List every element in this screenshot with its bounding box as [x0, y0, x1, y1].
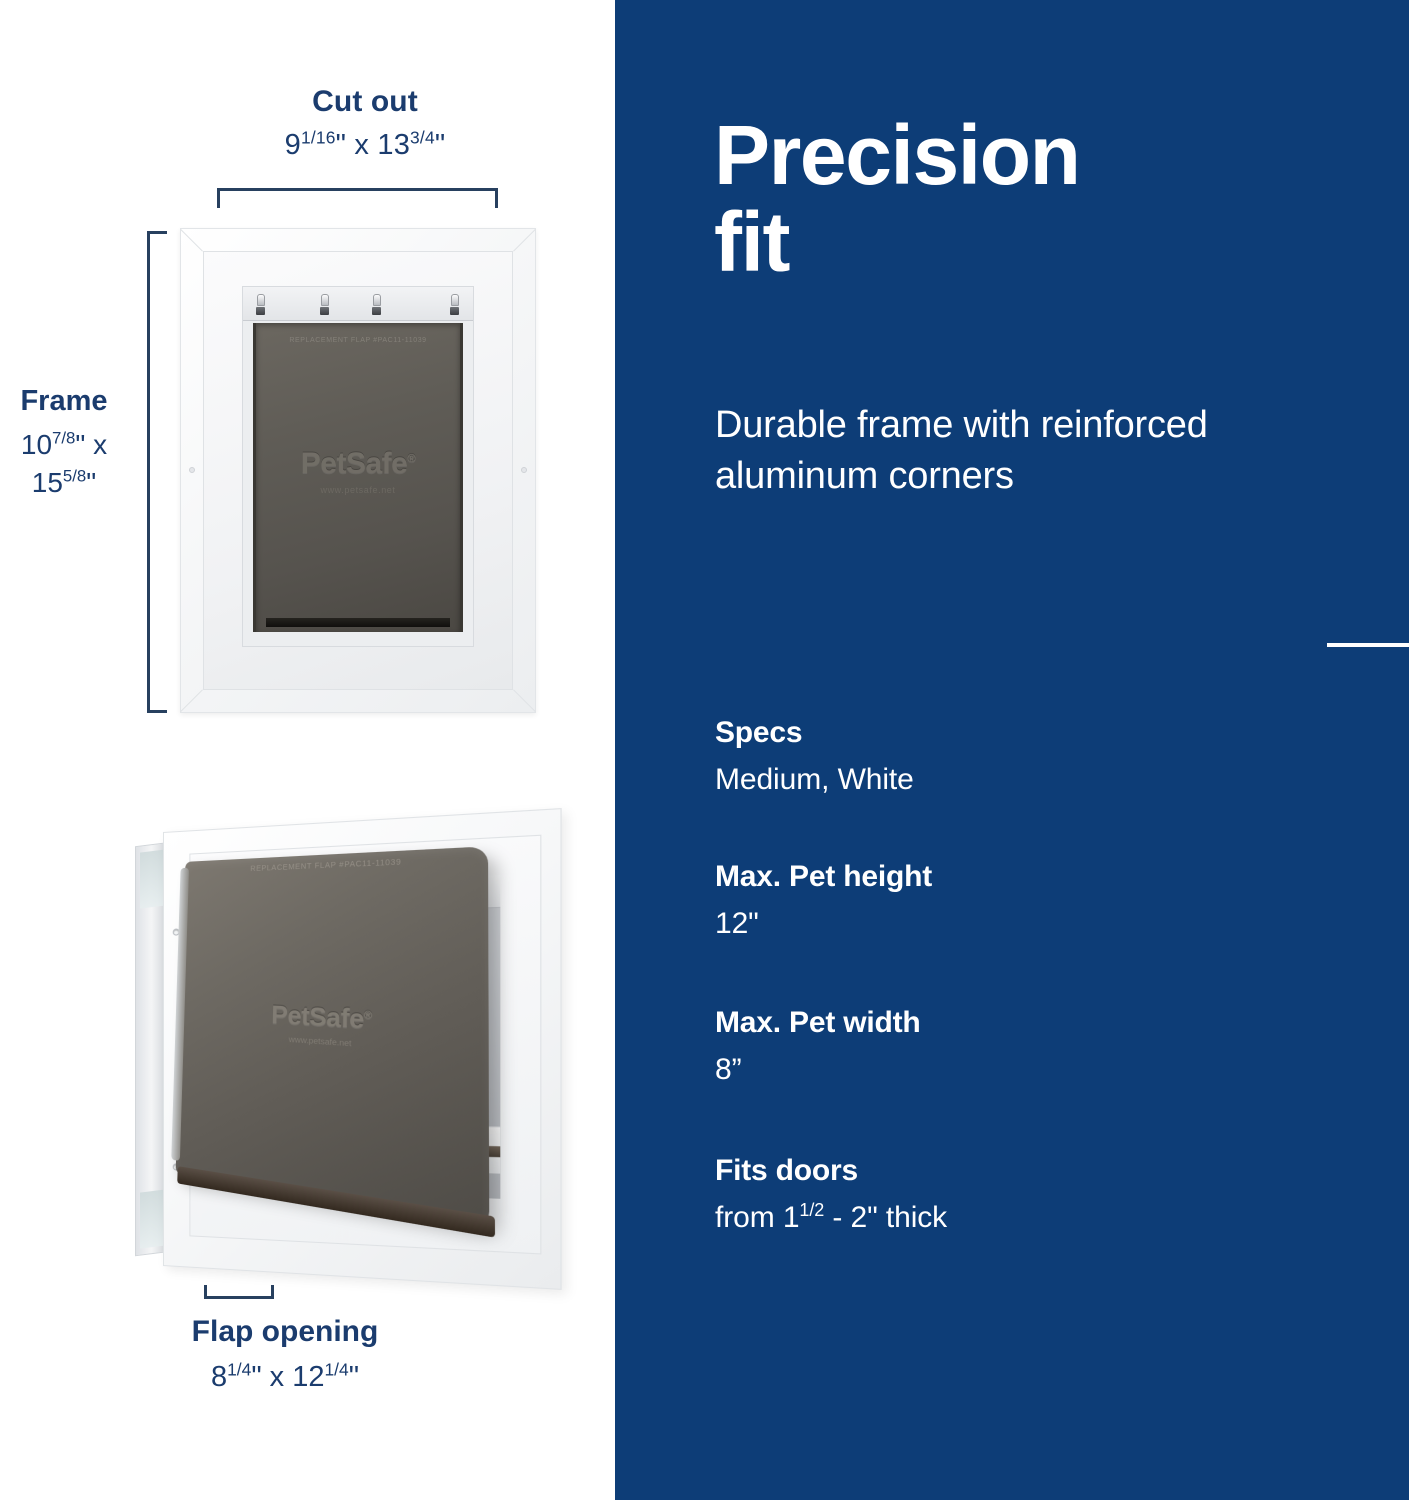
- flap-opening-measure-bracket: [204, 1285, 274, 1299]
- door-flap-cavity: REPLACEMENT FLAP #PAC11-11039 PetSafe® w…: [242, 286, 474, 647]
- feature-panel: Precisionfit Durable frame with reinforc…: [615, 0, 1409, 1500]
- frame-mitre-top-right: [513, 229, 536, 252]
- frame-mitre-bottom-left: [180, 689, 203, 712]
- rail-rivet-3: [373, 294, 381, 315]
- diagram-panel: Cut out 91/16" x 133/4" Frame 107/8" x15…: [0, 0, 615, 1500]
- frame-label-title: Frame: [2, 385, 126, 418]
- petsafe-logo-emboss: PetSafe® www.petsafe.net: [256, 447, 460, 495]
- spec-value: 8”: [715, 1053, 1315, 1087]
- pet-door-front-view-image: REPLACEMENT FLAP #PAC11-11039 PetSafe® w…: [180, 228, 536, 713]
- page-title: Precisionfit: [714, 112, 1354, 285]
- pet-door-flap: REPLACEMENT FLAP #PAC11-11039 PetSafe® w…: [253, 323, 463, 632]
- angled-petsafe-registered-mark: ®: [364, 1009, 372, 1021]
- section-divider: [1327, 643, 1409, 647]
- door-frame-bevel: REPLACEMENT FLAP #PAC11-11039 PetSafe® w…: [203, 251, 513, 690]
- spec-label: Fits doors: [715, 1154, 1315, 1188]
- petsafe-brand-text: PetSafe: [301, 447, 408, 480]
- spec-item-max-pet-height: Max. Pet height 12": [715, 860, 1315, 941]
- frame-side-screw-right: [521, 467, 527, 473]
- headline-line-2: fit: [714, 195, 789, 289]
- cutout-label-title: Cut out: [175, 85, 555, 119]
- door-frame-front-face: REPLACEMENT FLAP #PAC11-11039 PetSafe® w…: [163, 808, 562, 1290]
- spec-item-max-pet-width: Max. Pet width 8”: [715, 1006, 1315, 1087]
- spec-label: Specs: [715, 716, 1315, 750]
- door-frame-outer: REPLACEMENT FLAP #PAC11-11039 PetSafe® w…: [180, 228, 536, 713]
- frame-mitre-bottom-right: [513, 689, 536, 712]
- spec-value: 12": [715, 907, 1315, 941]
- spec-value: Medium, White: [715, 763, 1315, 797]
- spec-item-specs: Specs Medium, White: [715, 716, 1315, 797]
- flap-opening-label-value: 81/4" x 121/4": [95, 1361, 475, 1394]
- frame-dimension-label: Frame 107/8" x155/8": [2, 385, 126, 501]
- petsafe-registered-mark: ®: [407, 453, 415, 465]
- rail-rivet-1: [257, 294, 265, 315]
- frame-measure-bracket: [147, 231, 167, 713]
- frame-label-value: 107/8" x155/8": [2, 426, 126, 501]
- flap-replacement-microtext: REPLACEMENT FLAP #PAC11-11039: [256, 337, 460, 344]
- spec-label: Max. Pet height: [715, 860, 1315, 894]
- headline-line-1: Precision: [714, 108, 1080, 202]
- flap-opening-dimension-label: Flap opening 81/4" x 121/4": [95, 1315, 475, 1394]
- spec-value: from 11/2 - 2" thick: [715, 1201, 1315, 1235]
- flap-bottom-weight-bar: [266, 618, 450, 627]
- rail-rivet-4: [451, 294, 459, 315]
- pet-door-flap-open: REPLACEMENT FLAP #PAC11-11039 PetSafe® w…: [176, 846, 490, 1225]
- frame-mitre-top-left: [180, 229, 203, 252]
- cutout-label-value: 91/16" x 133/4": [175, 129, 555, 162]
- petsafe-url-text: www.petsafe.net: [256, 485, 460, 495]
- spec-item-fits-doors: Fits doors from 11/2 - 2" thick: [715, 1154, 1315, 1235]
- rail-rivet-2: [321, 294, 329, 315]
- cutout-dimension-label: Cut out 91/16" x 133/4": [175, 85, 555, 162]
- frame-side-screw-left: [189, 467, 195, 473]
- spec-label: Max. Pet width: [715, 1006, 1315, 1040]
- angled-petsafe-brand-text: PetSafe: [271, 1000, 364, 1034]
- pet-door-angled-view-image: REPLACEMENT FLAP #PAC11-11039 PetSafe® w…: [135, 832, 555, 1280]
- flap-opening-label-title: Flap opening: [95, 1315, 475, 1349]
- angled-petsafe-logo-emboss: PetSafe® www.petsafe.net: [180, 996, 489, 1058]
- flap-top-rail: [243, 287, 473, 321]
- subheadline: Durable frame with reinforced aluminum c…: [715, 400, 1275, 502]
- cutout-measure-bracket: [217, 188, 498, 208]
- infographic-page: Cut out 91/16" x 133/4" Frame 107/8" x15…: [0, 0, 1409, 1500]
